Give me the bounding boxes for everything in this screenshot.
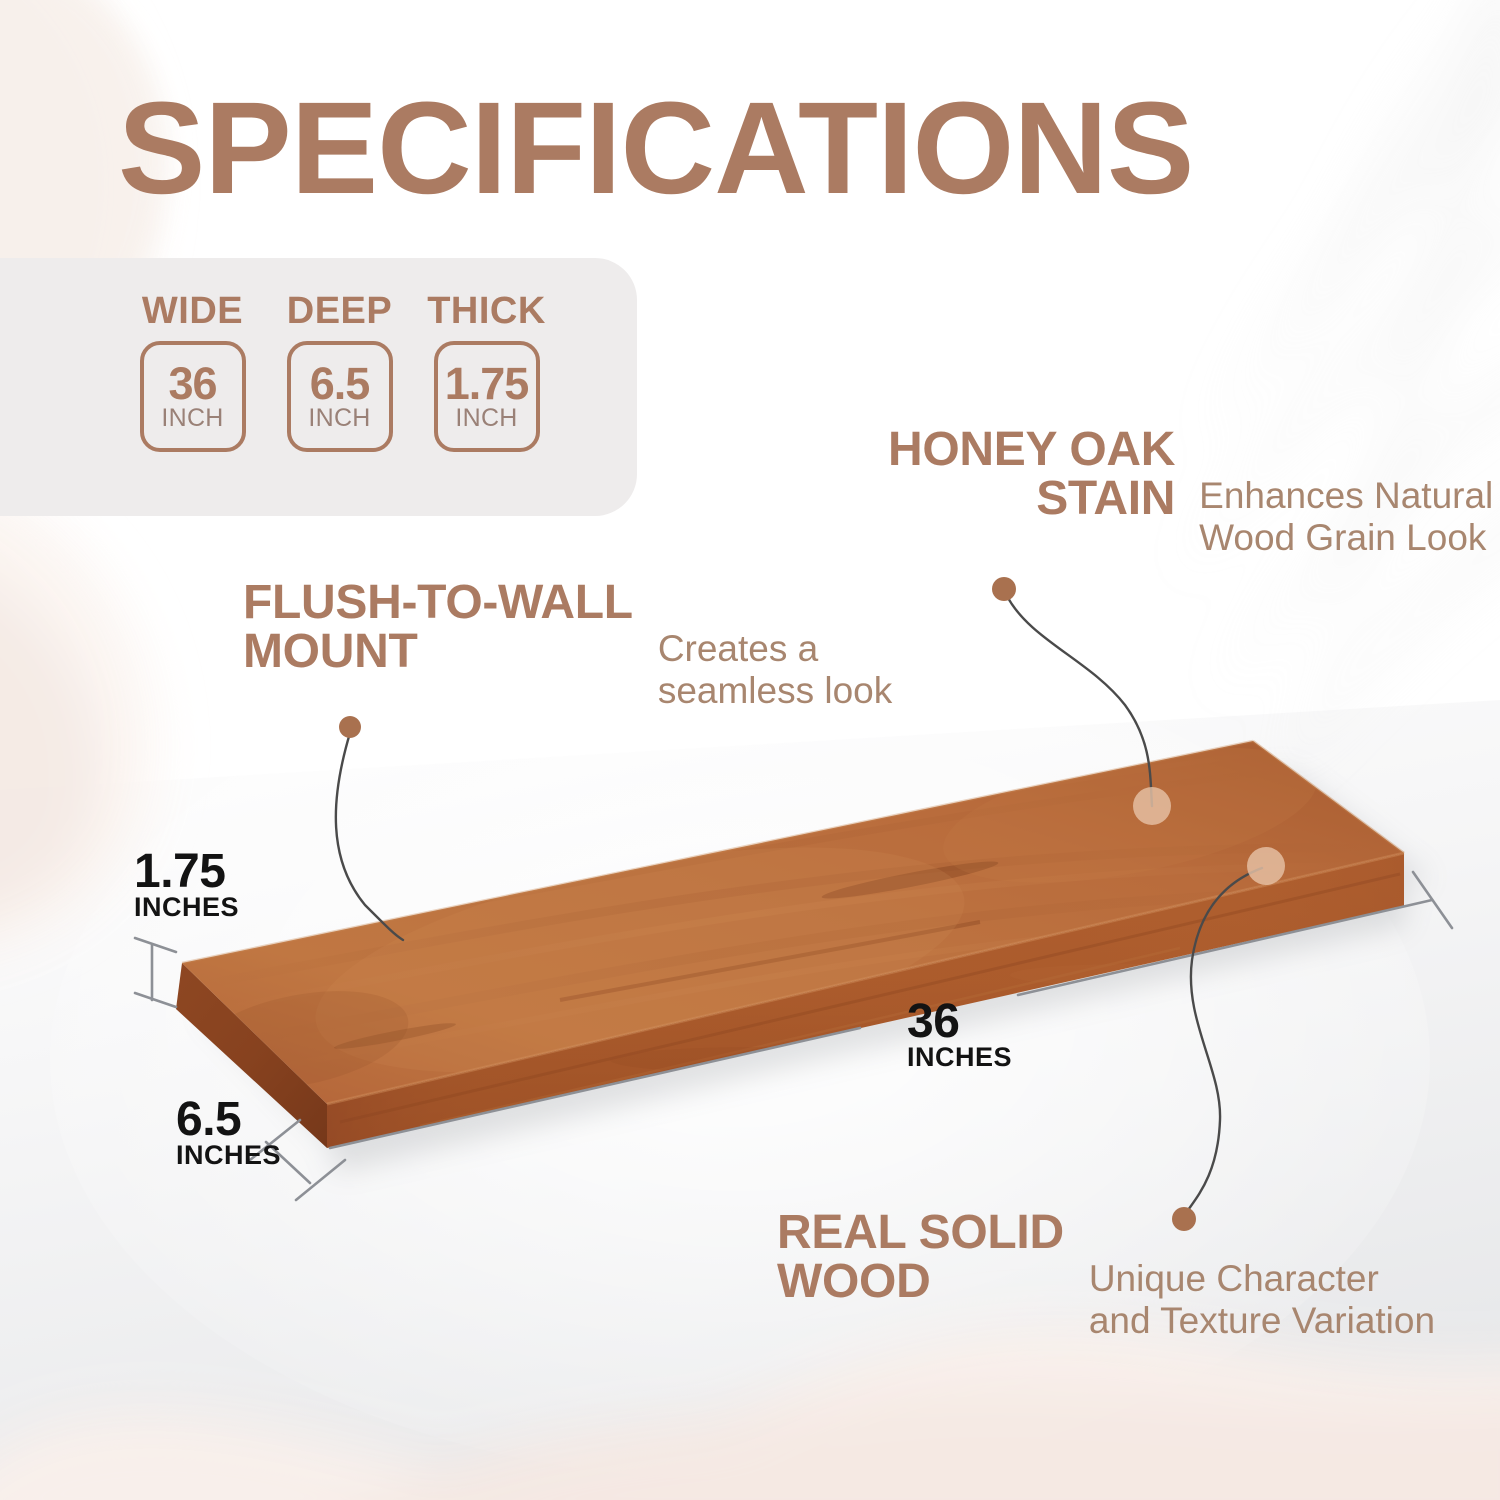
feature-heading-line2: STAIN xyxy=(1036,472,1175,525)
callout-dot-honey xyxy=(992,577,1016,601)
callout-marker-stain xyxy=(1133,787,1171,825)
callout-marker-wood xyxy=(1247,847,1285,885)
feature-desc-line2: and Texture Variation xyxy=(1089,1300,1435,1341)
feature-desc-line1: Enhances Natural xyxy=(1199,475,1493,516)
leader-honey xyxy=(1007,596,1152,806)
spec-badge-box: 36 INCH xyxy=(140,341,246,452)
spec-badge-box: 1.75 INCH xyxy=(434,341,540,452)
dimension-unit: INCHES xyxy=(134,894,239,921)
dimension-label-width: 36 INCHES xyxy=(907,1000,1012,1071)
dim-line-width xyxy=(330,1028,860,1148)
feature-desc-line2: Wood Grain Look xyxy=(1199,517,1486,558)
spec-badge-value: 1.75 xyxy=(445,362,529,405)
feature-heading-line1: REAL SOLID xyxy=(777,1206,1064,1259)
feature-callout-flush-mount: FLUSH-TO-WALL MOUNT Creates a seamless l… xyxy=(243,578,892,712)
feature-heading-line1: HONEY OAK xyxy=(888,423,1175,476)
feature-heading: HONEY OAK STAIN xyxy=(888,425,1175,524)
infographic-canvas: SPECIFICATIONS WIDE 36 INCH DEEP 6.5 INC… xyxy=(0,0,1500,1500)
dimension-label-thickness: 1.75 INCHES xyxy=(134,850,239,921)
feature-heading-line2: WOOD xyxy=(777,1255,930,1308)
feature-callout-real-solid-wood: REAL SOLID WOOD Unique Character and Tex… xyxy=(777,1208,1435,1342)
feature-desc-line1: Creates a xyxy=(658,628,818,669)
feature-heading: FLUSH-TO-WALL MOUNT xyxy=(243,578,633,677)
shelf-front-face xyxy=(327,853,1404,1148)
spec-badge-group: WIDE 36 INCH DEEP 6.5 INCH THICK 1.75 IN… xyxy=(130,292,549,452)
spec-badge-wide: WIDE 36 INCH xyxy=(130,292,255,452)
dimension-value: 36 xyxy=(907,1000,1012,1044)
spec-badge-label: THICK xyxy=(427,292,546,330)
feature-heading-line1: FLUSH-TO-WALL xyxy=(243,576,633,629)
spec-badge-label: DEEP xyxy=(287,292,392,330)
callout-dot-flush xyxy=(339,716,361,738)
spec-badge-unit: INCH xyxy=(455,406,517,431)
spec-badge-thick: THICK 1.75 INCH xyxy=(424,292,549,452)
dimension-value: 6.5 xyxy=(176,1098,281,1142)
spec-badge-box: 6.5 INCH xyxy=(287,341,393,452)
feature-heading-line2: MOUNT xyxy=(243,625,417,678)
spec-badge-label: WIDE xyxy=(142,292,243,330)
feature-callout-honey-oak-stain: HONEY OAK STAIN Enhances Natural Wood Gr… xyxy=(888,425,1493,559)
dimension-unit: INCHES xyxy=(907,1044,1012,1071)
feature-description: Enhances Natural Wood Grain Look xyxy=(1199,475,1493,559)
feature-desc-line1: Unique Character xyxy=(1089,1258,1379,1299)
page-title: SPECIFICATIONS xyxy=(118,82,1193,213)
shelf-top-face xyxy=(182,741,1404,1104)
spec-badge-value: 36 xyxy=(168,362,216,405)
feature-desc-line2: seamless look xyxy=(658,670,892,711)
spec-badge-unit: INCH xyxy=(308,406,370,431)
spec-badge-unit: INCH xyxy=(161,406,223,431)
leader-flush xyxy=(336,733,403,940)
leader-wood xyxy=(1186,868,1262,1213)
spec-badge-deep: DEEP 6.5 INCH xyxy=(277,292,402,452)
feature-description: Creates a seamless look xyxy=(658,628,892,712)
dimension-label-depth: 6.5 INCHES xyxy=(176,1098,281,1169)
spec-badge-value: 6.5 xyxy=(310,362,370,405)
dimension-unit: INCHES xyxy=(176,1142,281,1169)
feature-heading: REAL SOLID WOOD xyxy=(777,1208,1064,1307)
dimension-value: 1.75 xyxy=(134,850,239,894)
feature-description: Unique Character and Texture Variation xyxy=(1089,1258,1435,1342)
